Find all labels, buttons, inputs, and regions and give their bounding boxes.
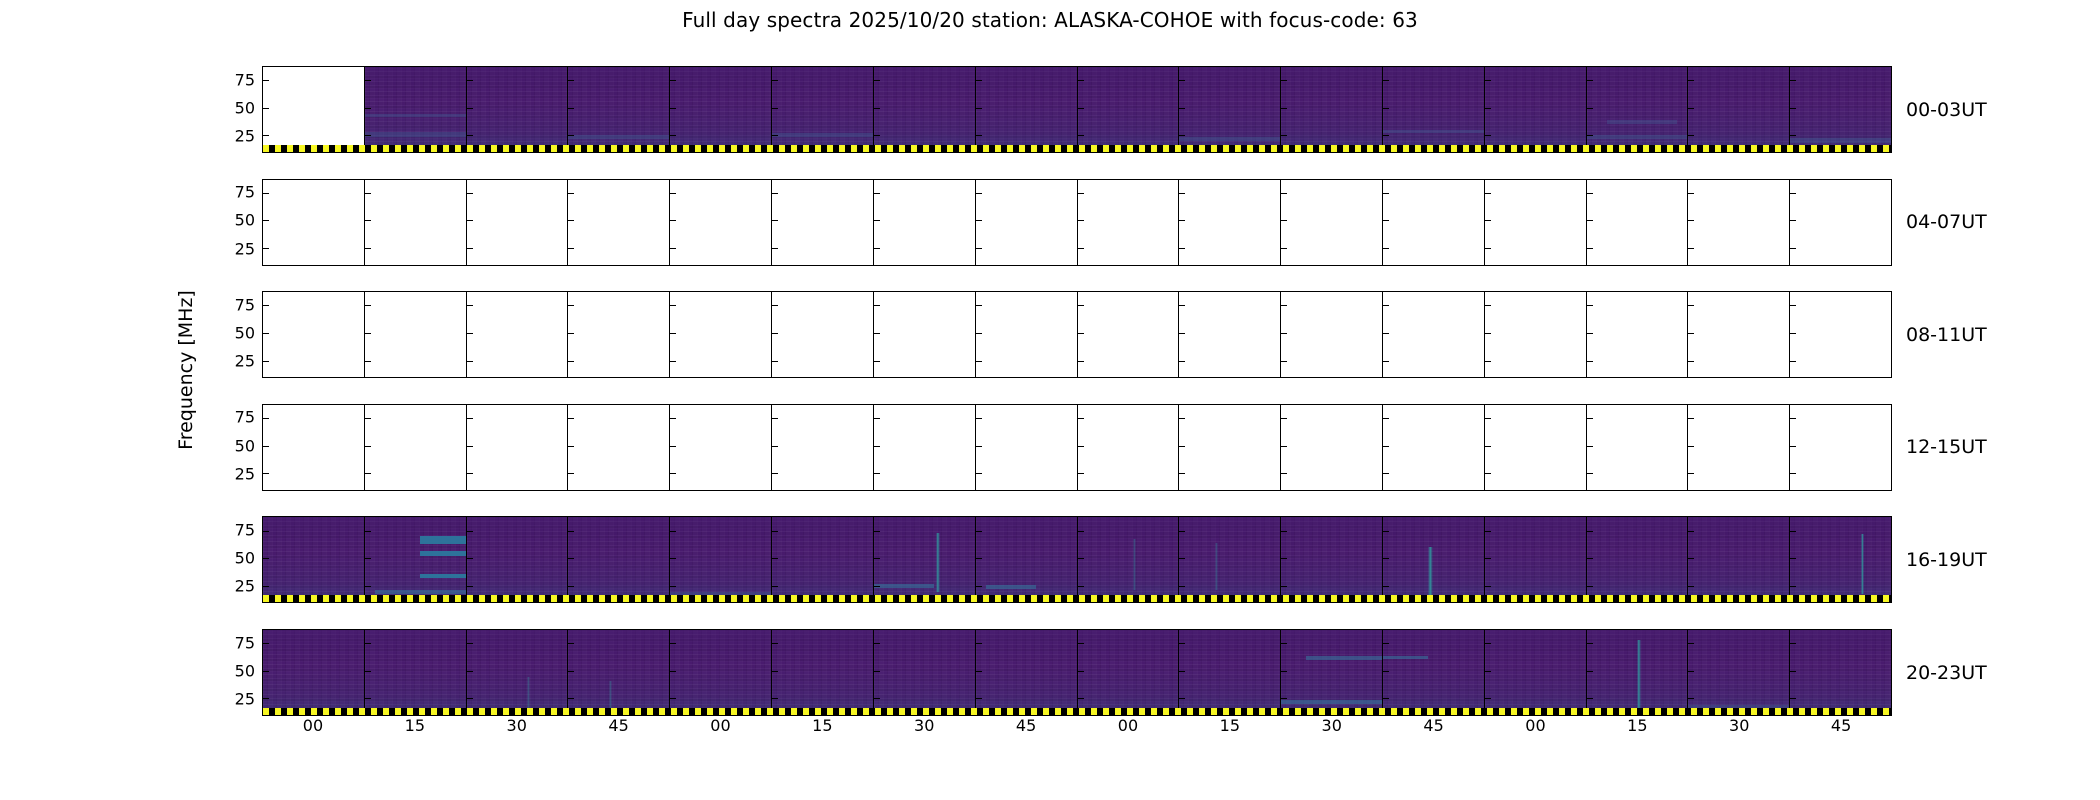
y-tick-mark [1281,418,1287,419]
spectrogram-panel[interactable] [1790,517,1891,602]
spectrogram-panel[interactable] [467,67,569,152]
spectrogram-gradient [1383,67,1484,152]
y-tick-mark [670,361,676,362]
y-tick-mark [1383,586,1389,587]
emission-band [986,585,1036,588]
spectrogram-gradient [1078,67,1179,152]
spectrogram-panel[interactable] [263,630,365,715]
spectrogram-panel[interactable] [1179,517,1281,602]
x-tick-label: 15 [1627,716,1647,735]
y-tick-mark [263,193,269,194]
spectrogram-panel[interactable] [1790,180,1891,265]
y-tick-mark [568,305,574,306]
y-tick-mark [1078,698,1084,699]
y-tick-mark [263,108,269,109]
y-tick-mark [772,671,778,672]
row-time-captions: 00-03UT04-07UT08-11UT12-15UT16-19UT20-23… [1906,66,2096,716]
y-tick-mark [467,305,473,306]
spectrogram-panel[interactable] [568,67,670,152]
spectrogram-gradient [467,67,568,152]
y-tick-label: 25 [235,239,255,258]
spectrogram-gradient [467,630,568,715]
spectrogram-image [874,517,975,602]
spectrogram-panel[interactable] [874,292,976,377]
y-tick-mark [568,586,574,587]
emission-band [568,135,669,139]
spectrogram-panel[interactable] [772,180,874,265]
spectrogram-panel[interactable] [365,67,467,152]
y-tick-mark [263,80,269,81]
y-tick-mark [568,558,574,559]
y-tick-mark [365,446,371,447]
spectrogram-image [1179,630,1280,715]
y-tick-mark [1078,473,1084,474]
y-tick-mark [568,108,574,109]
y-tick-mark [1383,473,1389,474]
spectrogram-panel[interactable] [568,517,670,602]
spectrogram-panel[interactable] [1078,67,1180,152]
spectrogram-panel[interactable] [467,517,569,602]
y-tick-mark [1790,446,1796,447]
spectrogram-panel[interactable] [1587,517,1689,602]
y-tick-mark [670,418,676,419]
y-tick-mark [670,80,676,81]
spectrogram-panel[interactable] [976,405,1078,490]
y-tick-mark [670,193,676,194]
radio-burst [1133,539,1136,590]
spectrogram-panel[interactable] [772,292,874,377]
spectrogram-panel[interactable] [1281,292,1383,377]
y-tick-mark [1790,698,1796,699]
spectrogram-panel[interactable] [1383,67,1485,152]
y-tick-mark [1587,220,1593,221]
y-tick-mark [467,698,473,699]
spectrogram-panel[interactable] [1790,67,1891,152]
spectrogram-panel[interactable] [1281,630,1383,715]
radio-burst [936,533,940,593]
spectrogram-gradient [365,67,466,152]
spectrogram-panel[interactable] [1485,517,1587,602]
y-tick-mark [1383,305,1389,306]
spectrogram-panel[interactable] [1179,67,1281,152]
y-tick-mark [670,531,676,532]
y-tick-mark [1179,220,1185,221]
spectrogram-panel[interactable] [976,630,1078,715]
spectrogram-panel[interactable] [1485,405,1587,490]
spectrogram-panel[interactable] [1688,292,1790,377]
spectrogram-row-04-07ut[interactable] [262,179,1892,266]
spectrogram-panel[interactable] [976,67,1078,152]
y-tick-mark [1179,361,1185,362]
spectrogram-panel[interactable] [670,292,772,377]
y-tick-mark [772,193,778,194]
y-tick-mark [1281,558,1287,559]
y-tick-mark [568,418,574,419]
emission-band [1383,656,1428,659]
y-tick-mark [1179,643,1185,644]
spectrogram-row-08-11ut[interactable] [262,291,1892,378]
spectrogram-gradient [874,630,975,715]
spectrogram-panel[interactable] [467,405,569,490]
y-tick-label: 25 [235,690,255,709]
y-tick-mark [1587,473,1593,474]
panel-strip [263,630,1891,715]
spectrogram-panel[interactable] [365,630,467,715]
spectrogram-panel[interactable] [1688,67,1790,152]
y-tick-mark [1485,698,1491,699]
spectrogram-panel[interactable] [670,405,772,490]
y-tick-mark [1179,193,1185,194]
y-tick-mark [976,558,982,559]
y-tick-mark [1790,671,1796,672]
y-tick-mark [1587,80,1593,81]
y-axis-label: Frequency [MHz] [175,60,201,680]
y-tick-mark [568,643,574,644]
y-tick-mark [568,193,574,194]
spectrogram-gradient [772,67,873,152]
row-time-label: 16-19UT [1906,549,1987,571]
y-tick-mark [874,220,880,221]
y-tick-mark [467,558,473,559]
y-tick-mark [467,248,473,249]
y-tick-mark [1383,643,1389,644]
spectrogram-panel[interactable] [1688,405,1790,490]
y-tick-mark [874,558,880,559]
spectrogram-row-12-15ut[interactable] [262,404,1892,491]
y-tick-mark [1281,108,1287,109]
y-tick-mark [1688,531,1694,532]
spectrogram-panel[interactable] [874,67,976,152]
y-tick-mark [1383,248,1389,249]
x-tick-label: 45 [1831,716,1851,735]
spectrogram-panel[interactable] [263,180,365,265]
spectrogram-panel[interactable] [772,630,874,715]
x-tick-label: 30 [914,716,934,735]
y-tick-mark [263,248,269,249]
spectrogram-panel[interactable] [467,630,569,715]
y-tick-mark [1179,531,1185,532]
spectrogram-panel[interactable] [263,292,365,377]
spectrogram-panel[interactable] [976,292,1078,377]
spectrogram-panel[interactable] [670,67,772,152]
spectrogram-panel[interactable] [1688,630,1790,715]
y-tick-mark [670,643,676,644]
y-tick-mark [1790,135,1796,136]
y-tick-mark [365,333,371,334]
y-tick-mark [365,108,371,109]
y-tick-mark [976,418,982,419]
spectrogram-panel[interactable] [1179,630,1281,715]
spectrogram-gradient [1281,517,1382,602]
y-tick-mark [365,473,371,474]
y-tick-mark [1383,80,1389,81]
y-tick-mark [976,108,982,109]
y-tick-mark [1587,586,1593,587]
spectrogram-panel[interactable] [874,180,976,265]
spectrogram-panel[interactable] [874,405,976,490]
y-tick-mark [976,473,982,474]
x-tick-label: 00 [303,716,323,735]
spectrogram-panel[interactable] [263,405,365,490]
spectrogram-image [1078,517,1179,602]
spectrogram-panel[interactable] [1078,630,1180,715]
spectrogram-panel[interactable] [568,630,670,715]
y-tick-mark [1485,305,1491,306]
spectrogram-panel[interactable] [1281,405,1383,490]
spectrogram-gradient [1078,517,1179,602]
spectrogram-panel[interactable] [1587,180,1689,265]
spectrogram-panel[interactable] [365,292,467,377]
y-tick-mark [874,80,880,81]
emission-band [365,114,466,117]
y-tick-mark [1383,361,1389,362]
y-tick-mark [263,643,269,644]
spectrogram-panel[interactable] [1078,405,1180,490]
y-tick-mark [1179,108,1185,109]
spectrogram-panel[interactable] [263,67,365,152]
spectrogram-panel[interactable] [874,630,976,715]
spectrogram-panel[interactable] [874,517,976,602]
spectrogram-panel[interactable] [772,405,874,490]
spectrogram-gradient [772,517,873,602]
y-tick-mark [1078,220,1084,221]
spectrogram-panel[interactable] [1485,292,1587,377]
spectrogram-panel[interactable] [365,517,467,602]
y-tick-mark [1688,558,1694,559]
spectrogram-gradient [670,67,771,152]
spectrogram-image [874,67,975,152]
x-tick-label: 30 [507,716,527,735]
y-tick-mark [1078,558,1084,559]
x-tick-label: 00 [1118,716,1138,735]
y-tick-mark [772,248,778,249]
y-tick-mark [263,531,269,532]
y-tick-mark [568,671,574,672]
emission-band [375,590,466,593]
y-tick-mark [1281,333,1287,334]
y-tick-mark [874,108,880,109]
spectrogram-image [1179,517,1280,602]
spectrogram-panel[interactable] [1078,292,1180,377]
spectrogram-panel[interactable] [1790,405,1891,490]
y-tick-mark [1688,135,1694,136]
spectrogram-panel[interactable] [976,517,1078,602]
spectrogram-panel[interactable] [1790,292,1891,377]
spectrogram-image [772,630,873,715]
spectrogram-image [568,67,669,152]
y-tick-mark [874,473,880,474]
y-tick-mark [1688,418,1694,419]
y-tick-mark [670,305,676,306]
spectrogram-gradient [1790,630,1891,715]
y-tick-mark [976,80,982,81]
y-tick-mark [1383,446,1389,447]
y-tick-mark [1485,418,1491,419]
y-tick-mark [670,220,676,221]
y-tick-mark [1281,305,1287,306]
spectrogram-panel[interactable] [670,517,772,602]
spectrogram-image [568,517,669,602]
spectrogram-gradient [1179,517,1280,602]
spectrogram-image [670,517,771,602]
y-tick-mark [1179,333,1185,334]
spectrogram-panel[interactable] [1078,517,1180,602]
y-tick-mark [568,531,574,532]
y-tick-mark [1383,220,1389,221]
y-tick-mark [976,220,982,221]
y-tick-mark [1383,108,1389,109]
page-title: Full day spectra 2025/10/20 station: ALA… [0,8,2100,32]
y-tick-mark [874,333,880,334]
spectrogram-gradient [568,517,669,602]
spectrogram-panel[interactable] [1587,292,1689,377]
spectrogram-gradient [1485,630,1586,715]
y-tick-mark [1383,135,1389,136]
y-tick-mark [1179,473,1185,474]
spectrogram-panel[interactable] [568,292,670,377]
y-tick-mark [1078,446,1084,447]
spectrogram-panel[interactable] [1179,292,1281,377]
spectrogram-image [874,630,975,715]
y-tick-mark [1281,531,1287,532]
spectrogram-panel[interactable] [772,67,874,152]
spectrogram-row-16-19ut[interactable] [262,516,1892,603]
spectrogram-panel[interactable] [1383,292,1485,377]
spectrogram-image [772,67,873,152]
y-tick-mark [772,333,778,334]
spectrogram-panel[interactable] [1485,180,1587,265]
spectrogram-panel[interactable] [1587,405,1689,490]
spectrogram-panel[interactable] [1179,405,1281,490]
y-tick-mark [1383,193,1389,194]
spectrogram-panel[interactable] [467,180,569,265]
y-tick-mark [263,446,269,447]
y-tick-mark [568,698,574,699]
spectrogram-panel[interactable] [568,180,670,265]
y-tick-mark [467,361,473,362]
spectrogram-panel[interactable] [1078,180,1180,265]
spectrogram-panel[interactable] [1688,517,1790,602]
y-tick-mark [365,248,371,249]
spectrogram-gradient [1179,630,1280,715]
spectrogram-image [263,517,364,602]
spectrogram-panel[interactable] [1383,517,1485,602]
spectrogram-panel[interactable] [1383,180,1485,265]
y-tick-mark [670,446,676,447]
y-tick-mark [1078,531,1084,532]
spectrogram-panel[interactable] [670,180,772,265]
y-tick-mark [263,418,269,419]
y-tick-mark [263,586,269,587]
y-tick-mark [874,586,880,587]
spectrogram-panel[interactable] [568,405,670,490]
spectrogram-panel[interactable] [365,180,467,265]
spectrogram-gradient [670,517,771,602]
spectrogram-panel[interactable] [1281,180,1383,265]
spectrogram-panel[interactable] [1688,180,1790,265]
y-tick-label: 75 [235,520,255,539]
spectrogram-gradient [1790,517,1891,602]
spectrogram-gradient [263,517,364,602]
spectrogram-gradient [1485,517,1586,602]
y-tick-mark [1485,531,1491,532]
spectrogram-panel[interactable] [1587,630,1689,715]
spectrogram-gradient [1383,517,1484,602]
row-time-label: 00-03UT [1906,99,1987,121]
y-tick-mark [1281,586,1287,587]
y-tick-mark [365,135,371,136]
y-tick-mark [874,305,880,306]
spectrogram-gradient [1688,67,1789,152]
y-tick-mark [1078,671,1084,672]
spectrogram-row-20-23ut[interactable] [262,629,1892,716]
y-tick-mark [1587,558,1593,559]
spectrogram-panel[interactable] [1281,517,1383,602]
event-marker-strip [263,595,1891,602]
y-tick-mark [1790,586,1796,587]
radio-burst [609,681,612,711]
spectrogram-panel[interactable] [772,517,874,602]
y-tick-mark [874,531,880,532]
y-tick-mark [365,305,371,306]
y-tick-mark [365,418,371,419]
y-tick-mark [1078,108,1084,109]
y-tick-mark [467,220,473,221]
spectrogram-gradient [1485,67,1586,152]
y-tick-mark [1383,531,1389,532]
y-tick-mark [1281,671,1287,672]
y-tick-mark [976,671,982,672]
spectrogram-panel[interactable] [1485,630,1587,715]
y-tick-mark [976,361,982,362]
spectrogram-panel[interactable] [1790,630,1891,715]
spectrogram-image [467,630,568,715]
y-tick-mark [1281,698,1287,699]
x-tick-label: 45 [608,716,628,735]
spectrogram-panel[interactable] [670,630,772,715]
spectrogram-panel[interactable] [1587,67,1689,152]
spectrogram-panel[interactable] [1383,630,1485,715]
y-tick-mark [1078,586,1084,587]
spectrogram-panel[interactable] [467,292,569,377]
spectrogram-panel[interactable] [263,517,365,602]
spectrogram-panel[interactable] [1179,180,1281,265]
spectrogram-gradient [568,630,669,715]
spectrogram-panel[interactable] [976,180,1078,265]
y-tick-mark [365,558,371,559]
spectrogram-gradient [1587,517,1688,602]
y-tick-mark [1179,248,1185,249]
x-tick-label: 45 [1423,716,1443,735]
spectrogram-panel[interactable] [1383,405,1485,490]
y-tick-mark [1078,361,1084,362]
spectrogram-gradient [772,630,873,715]
y-tick-mark [1790,531,1796,532]
spectrogram-row-00-03ut[interactable] [262,66,1892,153]
y-tick-mark [1179,80,1185,81]
y-tick-mark [365,643,371,644]
y-tick-mark [1790,473,1796,474]
spectrogram-panel[interactable] [1281,67,1383,152]
y-tick-mark [1587,135,1593,136]
radio-burst [1637,640,1641,708]
spectrogram-panel[interactable] [1485,67,1587,152]
y-tick-mark [670,586,676,587]
y-tick-mark [670,558,676,559]
y-tick-mark [568,473,574,474]
spectrogram-image [1688,67,1789,152]
spectrogram-panel[interactable] [365,405,467,490]
